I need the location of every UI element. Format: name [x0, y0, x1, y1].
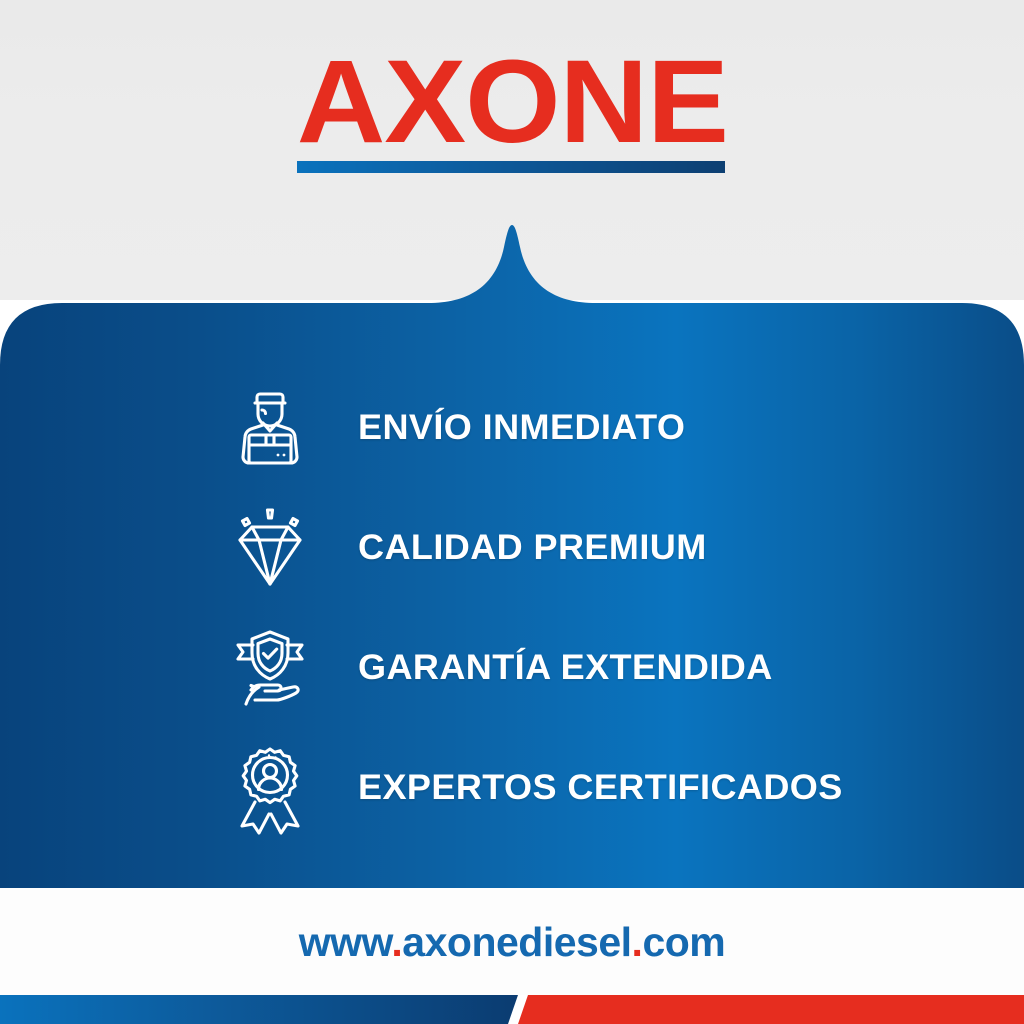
feature-panel: ENVÍO INMEDIATO — [0, 225, 1024, 890]
feature-label-calidad: CALIDAD PREMIUM — [358, 528, 707, 568]
brand-block: AXONE — [0, 46, 1024, 158]
url-domain: axonediesel — [402, 919, 631, 965]
website-strip: www.axonediesel.com — [0, 890, 1024, 995]
bottom-accent-shape — [0, 995, 1024, 1024]
feature-item-expertos[interactable]: EXPERTOS CERTIFICADOS — [218, 733, 829, 843]
bottom-bar-right-segment — [518, 995, 1024, 1024]
brand-wordmark: AXONE — [296, 46, 727, 158]
feature-label-garantia: GARANTÍA EXTENDIDA — [358, 648, 773, 688]
url-tld: com — [642, 919, 725, 965]
shield-check-hand-icon — [218, 616, 322, 720]
feature-item-calidad[interactable]: CALIDAD PREMIUM — [218, 493, 696, 603]
bottom-bar-left-segment — [0, 995, 518, 1024]
feature-item-garantia[interactable]: GARANTÍA EXTENDIDA — [218, 613, 761, 723]
feature-item-envio[interactable]: ENVÍO INMEDIATO — [218, 373, 676, 483]
feature-label-expertos: EXPERTOS CERTIFICADOS — [358, 768, 843, 808]
bottom-accent-bar — [0, 995, 1024, 1024]
url-dot-second: . — [632, 919, 643, 965]
brand-underline-rule — [297, 161, 725, 173]
certified-badge-person-icon — [218, 736, 322, 840]
delivery-person-box-icon — [218, 376, 322, 480]
url-prefix: www — [299, 919, 392, 965]
url-dot-first: . — [391, 919, 402, 965]
promo-poster: AXONE — [0, 0, 1024, 1024]
website-url[interactable]: www.axonediesel.com — [299, 919, 726, 966]
diamond-gem-icon — [218, 496, 322, 600]
feature-list: ENVÍO INMEDIATO — [0, 225, 1024, 890]
feature-label-envio: ENVÍO INMEDIATO — [358, 408, 685, 448]
